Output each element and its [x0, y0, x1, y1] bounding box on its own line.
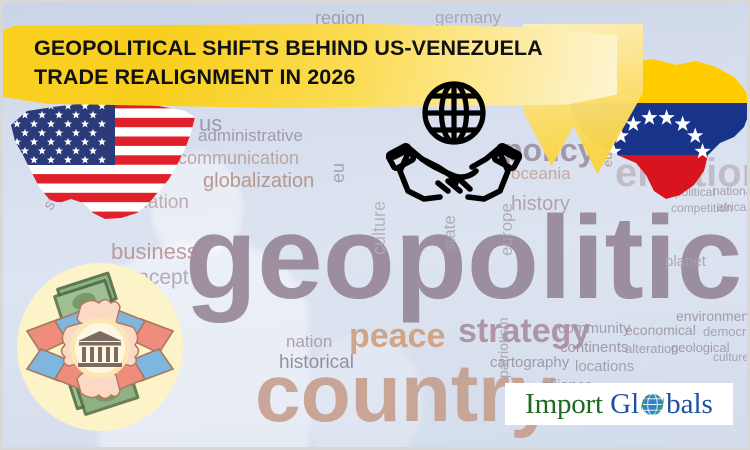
cloud-word: globalization	[203, 171, 314, 191]
flag-star	[13, 156, 21, 164]
cloud-word: eu	[329, 163, 347, 183]
cloud-word: community	[558, 321, 631, 336]
cloud-word: environment	[676, 309, 750, 323]
cloud-word: economical	[625, 323, 696, 337]
brand-logo[interactable]: Import Gl bals	[505, 383, 733, 425]
money-exchange-icon	[15, 261, 185, 433]
cloud-word: cultures	[713, 351, 750, 363]
title-line-1: GEOPOLITICAL SHIFTS BEHIND US-VENEZUELA	[34, 34, 594, 63]
logo-word-import: Import	[525, 389, 603, 419]
cloud-word: locations	[575, 359, 634, 374]
globe-icon	[425, 84, 483, 142]
cloud-word: business	[111, 241, 198, 263]
brand-logo-text: Import Gl bals	[525, 389, 713, 419]
logo-word-gl: Gl	[610, 389, 639, 419]
cloud-word: culture	[370, 201, 388, 255]
cloud-word: us	[199, 113, 222, 135]
flag-star	[13, 102, 21, 110]
cloud-word: nation	[286, 333, 332, 350]
cloud-word: europe	[498, 203, 515, 256]
cloud-word: continents	[560, 340, 628, 355]
handshake-icon	[388, 145, 521, 199]
cloud-word: germany	[435, 9, 501, 26]
cloud-word: planet	[665, 254, 706, 269]
cloud-word: state	[441, 215, 458, 252]
cloud-word: peace	[349, 319, 445, 353]
cloud-word: democracy	[703, 325, 750, 338]
cloud-word: historical	[279, 353, 354, 372]
globe-handshake-icon	[386, 79, 522, 207]
logo-word-bals: bals	[666, 389, 713, 419]
infographic-banner: geopoliticscountrypeacestrategypolicyhis…	[0, 0, 750, 450]
cloud-word: patriotism	[496, 317, 510, 378]
flag-star	[30, 102, 38, 110]
logo-globe-icon	[640, 392, 665, 417]
us-map-flag	[9, 99, 199, 221]
